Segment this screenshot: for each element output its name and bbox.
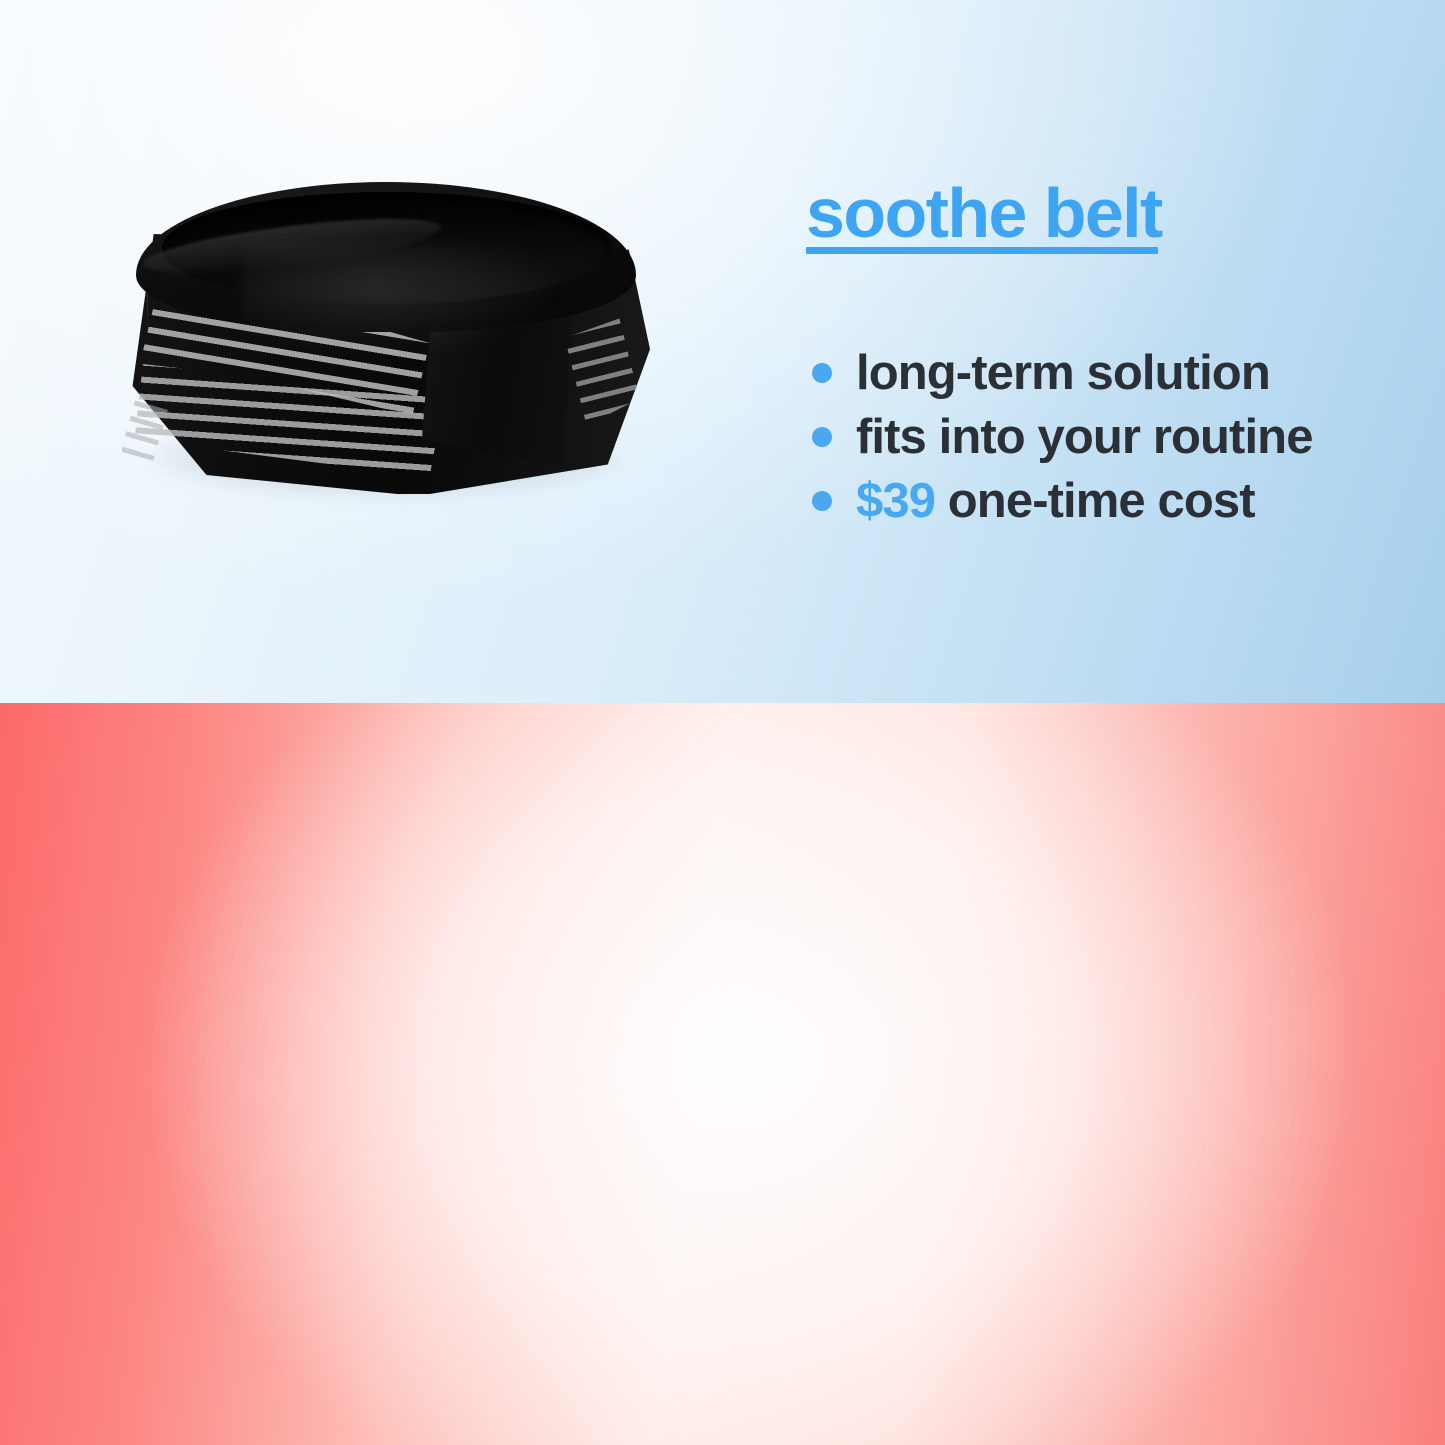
bullet-dot-icon: [812, 491, 832, 511]
belt-illustration: [122, 182, 650, 494]
comparison-infographic: soothe belt long-term solution fits into…: [0, 0, 1445, 1445]
soothe-belt-heading: soothe belt: [806, 178, 1162, 253]
lumbar-support-belt-photo: [110, 168, 670, 508]
soothe-belt-text-column: soothe belt long-term solution fits into…: [806, 178, 1406, 533]
list-item: long-term solution: [806, 341, 1406, 405]
bullet-text: one-time cost: [935, 474, 1255, 528]
bullet-dot-icon: [812, 427, 832, 447]
soothe-belt-heading-wrap: soothe belt: [806, 178, 1162, 253]
price-highlight: $39: [856, 474, 935, 528]
belt-fabric-sheen: [242, 242, 572, 362]
list-item: $39 one-time cost: [806, 469, 1406, 533]
bullet-dot-icon: [812, 363, 832, 383]
list-item: fits into your routine: [806, 405, 1406, 469]
soothe-belt-panel: soothe belt long-term solution fits into…: [0, 0, 1445, 703]
chiropractors-panel: chiropractors temporary relief hours out…: [0, 703, 1445, 1445]
soothe-belt-bullet-list: long-term solution fits into your routin…: [806, 341, 1406, 533]
bullet-text: long-term solution: [856, 346, 1270, 400]
soothe-belt-heading-underline: [806, 247, 1158, 254]
bullet-text: fits into your routine: [856, 410, 1313, 464]
